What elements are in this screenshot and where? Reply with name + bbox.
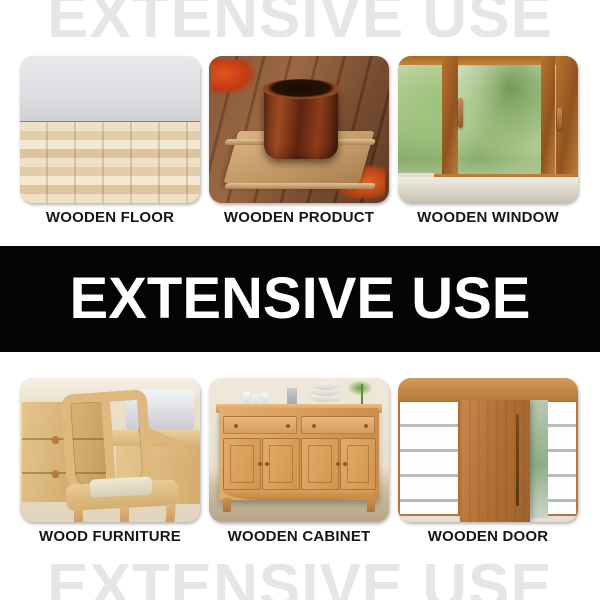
- tile-row-bottom: WOOD FURNITURE: [20, 378, 580, 545]
- banner: EXTENSIVE USE: [0, 246, 600, 352]
- watermark-top: EXTENSIVE USE: [0, 0, 600, 48]
- tile-wooden-door[interactable]: WOODEN DOOR: [398, 378, 578, 545]
- promo-graphic: EXTENSIVE USE WOODEN FLOOR: [0, 0, 600, 600]
- tile-caption: WOODEN WINDOW: [417, 209, 559, 226]
- wooden-cabinet-photo[interactable]: [209, 378, 389, 522]
- banner-title: EXTENSIVE USE: [70, 270, 531, 328]
- tile-wooden-window[interactable]: WOODEN WINDOW: [398, 56, 578, 226]
- tile-wooden-cabinet[interactable]: WOODEN CABINET: [209, 378, 389, 545]
- wooden-product-photo[interactable]: [209, 56, 389, 203]
- tile-wooden-floor[interactable]: WOODEN FLOOR: [20, 56, 200, 226]
- tile-wood-furniture[interactable]: WOOD FURNITURE: [20, 378, 200, 545]
- watermark-bottom: EXTENSIVE USE: [0, 556, 600, 600]
- tile-caption: WOODEN DOOR: [428, 528, 549, 545]
- tile-caption: WOODEN CABINET: [228, 528, 371, 545]
- tile-caption: WOODEN PRODUCT: [224, 209, 374, 226]
- wooden-window-photo[interactable]: [398, 56, 578, 203]
- wooden-floor-photo[interactable]: [20, 56, 200, 203]
- tile-caption: WOOD FURNITURE: [39, 528, 181, 545]
- tile-wooden-product[interactable]: WOODEN PRODUCT: [209, 56, 389, 226]
- tile-row-top: WOODEN FLOOR WOODEN PRODUCT: [20, 56, 580, 226]
- wooden-door-photo[interactable]: [398, 378, 578, 522]
- wood-furniture-photo[interactable]: [20, 378, 200, 522]
- tile-caption: WOODEN FLOOR: [46, 209, 174, 226]
